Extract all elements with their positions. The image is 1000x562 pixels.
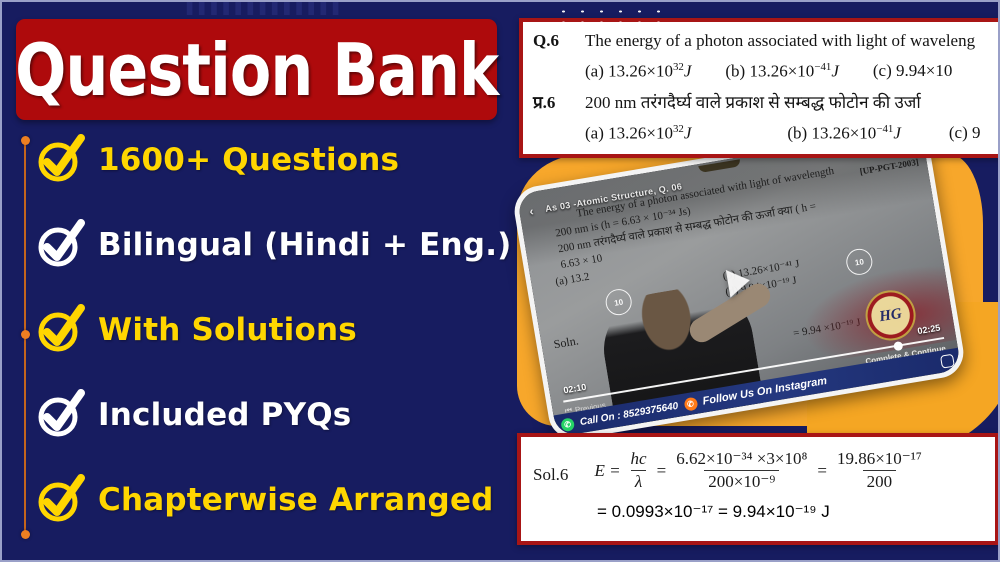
left-panel: Question Bank 1600+ Questions Bilingua: [2, 2, 507, 562]
feature-label: Chapterwise Arranged: [98, 482, 494, 518]
timeline-rail: [24, 140, 26, 534]
fraction-step-1: 6.62×10⁻³⁴ ×3×10⁸ 200×10⁻⁹: [672, 449, 811, 492]
solution-inner: Sol.6 E = hc λ = 6.62×10⁻³⁴ ×3×10⁸ 200×1…: [521, 437, 995, 492]
chevron-left-icon[interactable]: ‹: [528, 204, 534, 218]
phone-icon[interactable]: ✆: [683, 396, 698, 411]
rail-dot: [21, 530, 30, 539]
feature-label: Bilingual (Hindi + Eng.): [98, 227, 512, 263]
option-a: (a) 13.26×1032J: [585, 61, 691, 82]
question-card: Q.6 The energy of a photon associated wi…: [519, 18, 1000, 158]
question-en-text: The energy of a photon associated with l…: [585, 31, 975, 51]
instagram-icon[interactable]: [940, 353, 955, 368]
feature-item-questions: 1600+ Questions: [2, 128, 507, 191]
option-b-hi: (b) 13.26×10−41J: [787, 123, 900, 144]
whatsapp-icon[interactable]: ✆: [560, 417, 575, 432]
title-banner: Question Bank: [16, 19, 497, 120]
feature-label: 1600+ Questions: [98, 142, 399, 178]
play-icon[interactable]: [726, 266, 752, 297]
feature-label: Included PYQs: [98, 397, 351, 433]
feature-item-bilingual: Bilingual (Hindi + Eng.): [2, 213, 507, 276]
option-c-hi: (c) 9: [949, 123, 981, 144]
question-hi-tag: प्र.6: [523, 90, 585, 113]
check-circle-icon: [38, 394, 80, 436]
fraction-hc-lambda: hc λ: [627, 449, 651, 492]
question-en-row: Q.6 The energy of a photon associated wi…: [523, 31, 1000, 51]
question-en-tag: Q.6: [523, 31, 585, 51]
check-circle-icon: [38, 139, 80, 181]
right-panel: Q.6 The energy of a photon associated wi…: [507, 2, 1000, 562]
formula-lhs: E =: [594, 461, 620, 481]
feature-item-solutions: With Solutions: [2, 298, 507, 361]
poster-stage: IIIIIIIIIIIII Question Bank 1600+ Questi…: [0, 0, 1000, 562]
solution-tag: Sol.6: [533, 449, 568, 492]
question-hi-options: (a) 13.26×1032J (b) 13.26×10−41J (c) 9: [523, 123, 1000, 144]
feature-label: With Solutions: [98, 312, 357, 348]
fraction-step-2: 19.86×10⁻¹⁷ 200: [833, 449, 926, 492]
feature-item-pyqs: Included PYQs: [2, 383, 507, 446]
solution-card: Sol.6 E = hc λ = 6.62×10⁻³⁴ ×3×10⁸ 200×1…: [517, 433, 999, 545]
option-b: (b) 13.26×10−41J: [725, 61, 838, 82]
solution-line-2: = 0.0993×10⁻¹⁷ = 9.94×10⁻¹⁹ J: [521, 502, 995, 522]
check-circle-icon: [38, 224, 80, 266]
feature-list: 1600+ Questions Bilingual (Hindi + Eng.)…: [2, 128, 507, 553]
check-circle-icon: [38, 309, 80, 351]
slide-sol-label: Soln.: [552, 332, 580, 353]
option-c: (c) 9.94×10: [873, 61, 952, 82]
solution-formula: E = hc λ = 6.62×10⁻³⁴ ×3×10⁸ 200×10⁻⁹ = …: [594, 449, 931, 492]
dot-grid-decoration: [550, 4, 664, 26]
question-en-options: (a) 13.26×1032J (b) 13.26×10−41J (c) 9.9…: [523, 61, 1000, 82]
rail-dot: [21, 330, 30, 339]
question-hi-text: 200 nm तरंगदैर्घ्य वाले प्रकाश से सम्बद्…: [585, 90, 921, 113]
feature-item-chapterwise: Chapterwise Arranged: [2, 468, 507, 531]
rail-dot: [21, 136, 30, 145]
page-title: Question Bank: [15, 34, 498, 106]
question-hi-row: प्र.6 200 nm तरंगदैर्घ्य वाले प्रकाश से …: [523, 90, 1000, 113]
equals-1: =: [657, 461, 667, 481]
option-a-hi: (a) 13.26×1032J: [585, 123, 691, 144]
equals-2: =: [817, 461, 827, 481]
check-circle-icon: [38, 479, 80, 521]
